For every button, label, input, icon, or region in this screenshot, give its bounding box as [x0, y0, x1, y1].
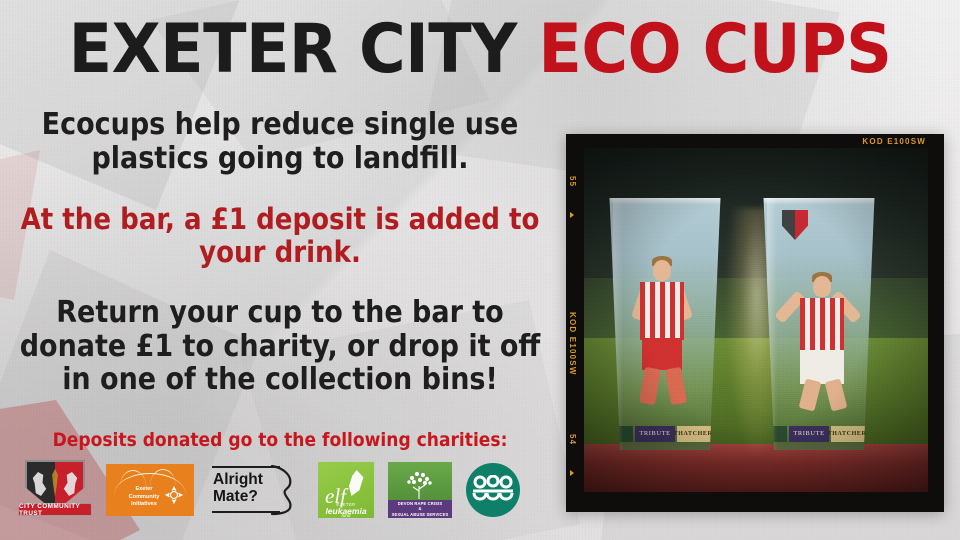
- wave-line-icon: [150, 469, 176, 486]
- wave-line-icon: [120, 470, 146, 486]
- sponsor-thatchers: THATCHERS: [831, 426, 867, 442]
- face-profile-icon: [270, 464, 296, 516]
- drc-banner: DEVON RAPE CRISIS & SEXUAL ABUSE SERVICE…: [388, 500, 452, 518]
- tree-icon: [400, 467, 440, 499]
- film-code-top: KOD E100SW: [862, 137, 926, 146]
- title-part-accent: ECO CUPS: [538, 10, 891, 89]
- logo-elf-leukaemia-fund[interactable]: elf EXETER leukaemia fund: [318, 462, 374, 518]
- eco-cup-right: TRIBUTE THATCHERS: [760, 198, 878, 450]
- poster-canvas: EXETER CITY ECO CUPS Ecocups help reduce…: [0, 0, 960, 540]
- film-frame-number-upper: 55: [568, 176, 577, 187]
- compass-star-icon: [164, 485, 184, 505]
- eci-line-1: Exeter: [122, 486, 166, 494]
- eco-cup-left: TRIBUTE THATCHERS: [606, 198, 724, 450]
- page-title: EXETER CITY ECO CUPS: [0, 16, 960, 84]
- charity-logo-strip: CITY COMMUNITY TRUST Exeter Community In…: [18, 456, 558, 524]
- film-marker-triangle-icon: [570, 212, 574, 218]
- body-paragraph-2: At the bar, a £1 deposit is added to you…: [10, 203, 550, 268]
- charities-heading: Deposits donated go to the following cha…: [10, 429, 550, 451]
- sponsor-tribute: TRIBUTE: [635, 426, 675, 442]
- copy-column: Ecocups help reduce single use plastics …: [10, 108, 550, 451]
- eci-line-3: Initiatives: [122, 501, 166, 509]
- eci-wordmark: Exeter Community Initiatives: [122, 486, 166, 509]
- logo-exeter-community-initiatives[interactable]: Exeter Community Initiatives: [106, 464, 194, 516]
- cup-sponsor-row-right: TRIBUTE THATCHERS: [764, 425, 874, 442]
- club-crest-icon: [782, 210, 808, 240]
- film-frame-number-lower: 54: [568, 434, 577, 445]
- drc-line-3: SEXUAL ABUSE SERVICES: [392, 512, 449, 517]
- sponsor-tribute: TRIBUTE: [789, 426, 829, 442]
- product-photo-film-frame: KOD E100SW 55 KOD E100SW 54: [566, 134, 944, 512]
- body-paragraph-1: Ecocups help reduce single use plastics …: [10, 108, 550, 175]
- logo-alright-mate[interactable]: Alright Mate?: [208, 462, 304, 518]
- cup-sponsor-row-left: TRIBUTE THATCHERS: [610, 425, 720, 442]
- film-marker-triangle-icon: [570, 470, 574, 476]
- body-paragraph-3: Return your cup to the bar to donate £1 …: [10, 296, 550, 397]
- film-code-side: KOD E100SW: [568, 312, 577, 376]
- photo-image: TRIBUTE THATCHERS: [584, 148, 928, 492]
- leaf-icon: [345, 470, 365, 496]
- title-part-primary: EXETER CITY: [69, 10, 517, 89]
- logo-city-community-trust[interactable]: CITY COMMUNITY TRUST: [18, 458, 92, 522]
- logo-community-circle[interactable]: [466, 463, 520, 517]
- logo-devon-rape-crisis[interactable]: DEVON RAPE CRISIS & SEXUAL ABUSE SERVICE…: [388, 462, 452, 518]
- three-people-icon: [472, 475, 514, 505]
- crest-banner-label: CITY COMMUNITY TRUST: [18, 503, 92, 516]
- elf-sub-fund: fund: [318, 513, 374, 518]
- sponsor-thatchers: THATCHERS: [677, 426, 713, 442]
- eci-line-2: Community: [122, 494, 166, 502]
